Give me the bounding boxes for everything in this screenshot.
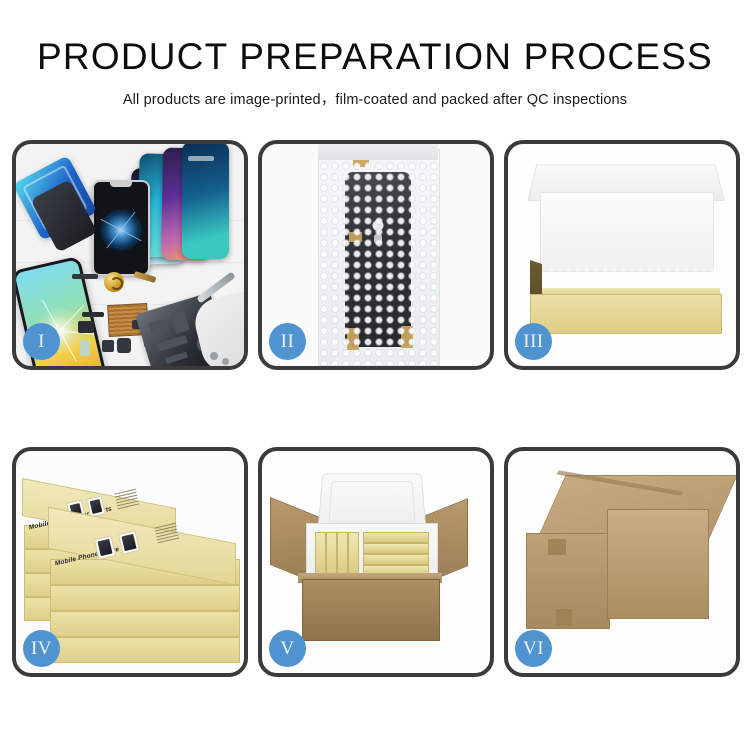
flex-cable-2 bbox=[78, 321, 94, 333]
step-badge-3: III bbox=[515, 323, 552, 360]
yellow-box-5 bbox=[363, 532, 429, 543]
process-step-6: VI bbox=[504, 447, 740, 677]
vibration-motor-part bbox=[104, 272, 124, 292]
process-step-5: V bbox=[258, 447, 494, 677]
bag-heat-seal bbox=[318, 144, 438, 160]
carton-tab-lower bbox=[556, 609, 572, 625]
page-title: PRODUCT PREPARATION PROCESS bbox=[0, 38, 750, 77]
process-steps-grid: I II bbox=[12, 140, 740, 677]
page-header: PRODUCT PREPARATION PROCESS All products… bbox=[0, 0, 750, 109]
process-step-2: II bbox=[258, 140, 494, 370]
process-step-4: Mobile Phone Spare Parts Mobile Phone Sp… bbox=[12, 447, 248, 677]
step-badge-5: V bbox=[269, 630, 306, 667]
stack-box-fr-4 bbox=[50, 637, 240, 663]
carton-right-face bbox=[607, 509, 709, 619]
flex-cable-1 bbox=[82, 312, 104, 317]
process-step-3: III bbox=[504, 140, 740, 370]
speaker-module bbox=[117, 338, 131, 353]
step-badge-1: I bbox=[23, 323, 60, 360]
yellow-box-6 bbox=[363, 543, 429, 554]
small-part-bar bbox=[72, 274, 98, 279]
step-badge-6: VI bbox=[515, 630, 552, 667]
screw-1 bbox=[210, 352, 218, 360]
process-step-1: I bbox=[12, 140, 248, 370]
box-front-panel bbox=[530, 294, 722, 334]
stack-box-fr-2 bbox=[50, 585, 240, 611]
sim-tray bbox=[80, 340, 90, 356]
phone-screen-front bbox=[92, 180, 150, 276]
carton-front-panel bbox=[302, 579, 440, 641]
product-preparation-page: PRODUCT PREPARATION PROCESS All products… bbox=[0, 0, 750, 750]
step-badge-4: IV bbox=[23, 630, 60, 667]
screw-2 bbox=[222, 358, 229, 365]
stack-box-fr-3 bbox=[50, 611, 240, 637]
bubble-wrap-bag bbox=[318, 149, 440, 366]
camera-module bbox=[102, 340, 114, 352]
page-subtitle: All products are image-printed，film-coat… bbox=[0, 88, 750, 109]
foam-sheet bbox=[540, 192, 714, 272]
carton-tab-upper bbox=[548, 539, 566, 555]
phone-device-teal bbox=[182, 144, 229, 259]
step-badge-2: II bbox=[269, 323, 306, 360]
yellow-box-7 bbox=[363, 554, 429, 565]
